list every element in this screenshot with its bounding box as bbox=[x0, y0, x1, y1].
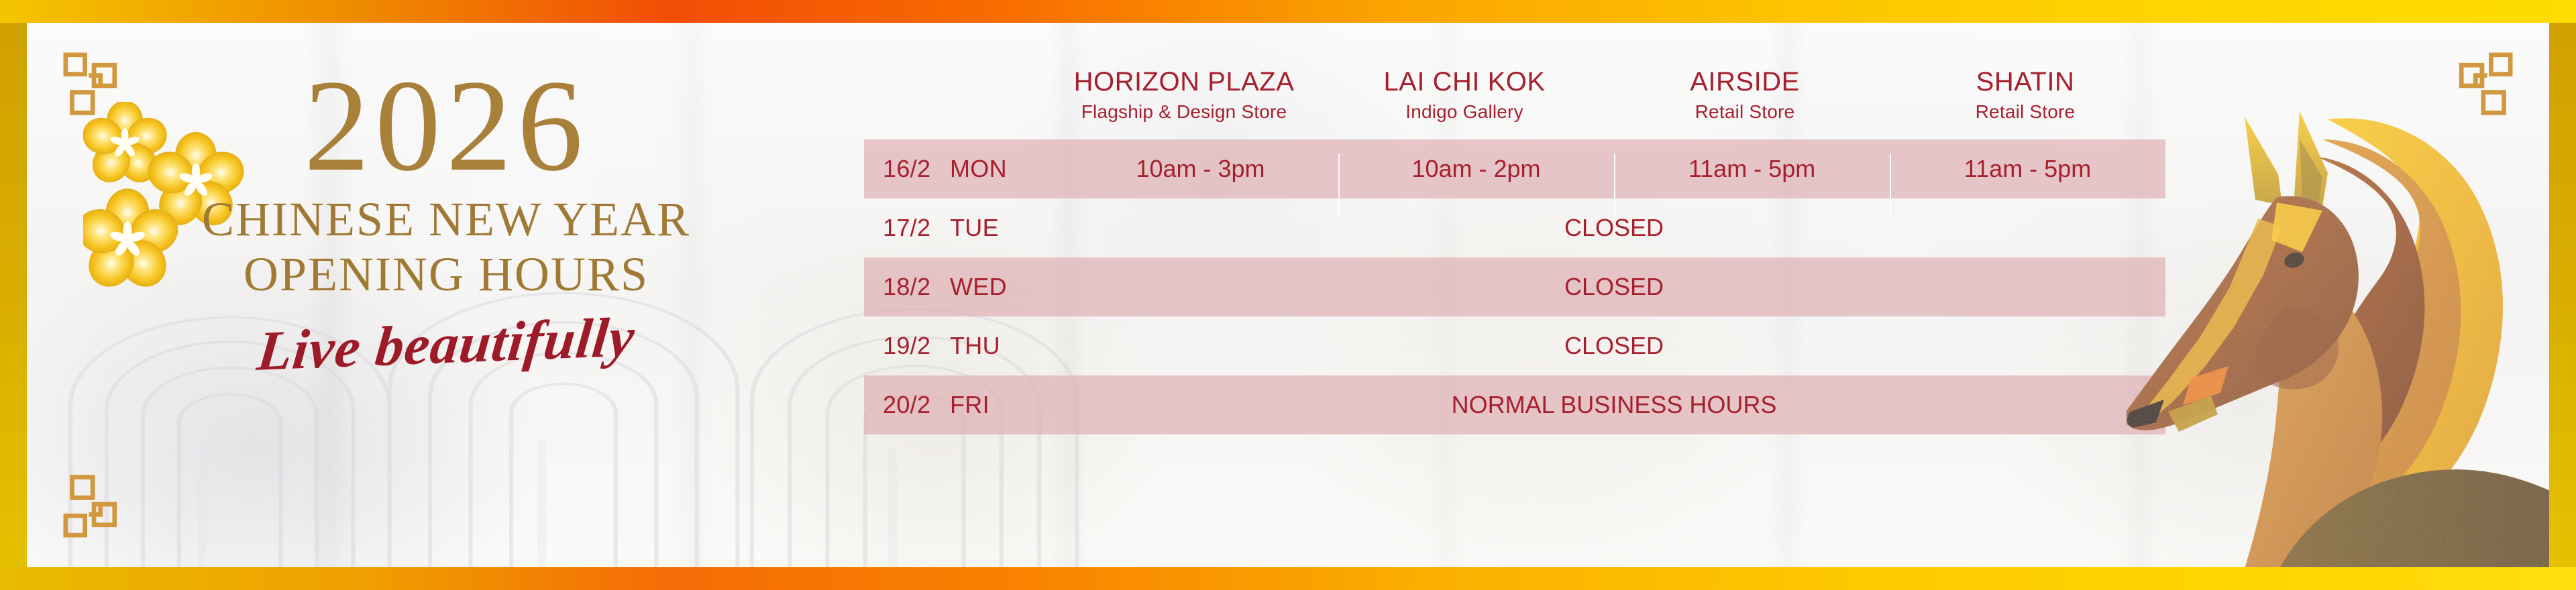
status-badge: CLOSED bbox=[1063, 332, 2165, 360]
row-date: 17/2 bbox=[883, 214, 932, 242]
store-subtitle: Flagship & Design Store bbox=[1044, 101, 1324, 123]
status-badge: CLOSED bbox=[1063, 273, 2165, 301]
chinese-geometric-corner-ornament-icon bbox=[63, 473, 127, 538]
banner-canvas: 2026 CHINESE NEW YEAR OPENING HOURS Live… bbox=[27, 21, 2549, 569]
row-weekday: MON bbox=[950, 155, 1007, 183]
store-subtitle: Retail Store bbox=[1885, 101, 2165, 123]
frame-left-gold bbox=[0, 0, 27, 590]
row-date: 20/2 bbox=[883, 391, 932, 419]
store-name: AIRSIDE bbox=[1605, 67, 1885, 97]
day-cell: 18/2 WED bbox=[864, 273, 1063, 301]
headline-block: 2026 CHINESE NEW YEAR OPENING HOURS Live… bbox=[127, 56, 765, 373]
store-name: SHATIN bbox=[1885, 67, 2165, 97]
row-date: 19/2 bbox=[883, 332, 932, 360]
row-weekday: THU bbox=[950, 332, 1000, 360]
row-weekday: WED bbox=[950, 273, 1007, 301]
header-spacer bbox=[864, 60, 1044, 139]
hours-cell-shatin: 11am - 5pm bbox=[1890, 155, 2165, 183]
hours-cell-airside: 11am - 5pm bbox=[1614, 155, 1890, 183]
frame-top-gradient bbox=[0, 0, 2576, 23]
frame-bottom-gradient bbox=[0, 567, 2576, 590]
status-badge: NORMAL BUSINESS HOURS bbox=[1063, 391, 2165, 419]
store-name: HORIZON PLAZA bbox=[1044, 67, 1324, 97]
store-subtitle: Indigo Gallery bbox=[1324, 101, 1605, 123]
table-row: 17/2 TUE CLOSED bbox=[864, 198, 2165, 257]
row-date: 18/2 bbox=[883, 273, 932, 301]
column-header-lai-chi-kok: LAI CHI KOK Indigo Gallery bbox=[1324, 60, 1605, 139]
status-badge: CLOSED bbox=[1063, 214, 2165, 242]
column-header-airside: AIRSIDE Retail Store bbox=[1605, 60, 1885, 139]
table-row: 16/2 MON 10am - 3pm 10am - 2pm 11am - 5p… bbox=[864, 139, 2165, 198]
opening-hours-table: HORIZON PLAZA Flagship & Design Store LA… bbox=[864, 60, 2165, 434]
day-cell: 16/2 MON bbox=[864, 155, 1063, 183]
row-weekday: TUE bbox=[950, 214, 999, 242]
row-date: 16/2 bbox=[883, 155, 932, 183]
store-name: LAI CHI KOK bbox=[1324, 67, 1605, 97]
day-cell: 20/2 FRI bbox=[864, 391, 1063, 419]
column-header-shatin: SHATIN Retail Store bbox=[1885, 60, 2165, 139]
headline-line-2: OPENING HOURS bbox=[127, 247, 765, 302]
row-weekday: FRI bbox=[950, 391, 989, 419]
cny-opening-hours-banner: 2026 CHINESE NEW YEAR OPENING HOURS Live… bbox=[0, 0, 2576, 590]
year-title: 2026 bbox=[127, 62, 765, 190]
hours-cell-lai-chi-kok: 10am - 2pm bbox=[1338, 155, 1614, 183]
year-of-the-horse-illustration bbox=[2127, 39, 2549, 569]
frame-right-gold bbox=[2549, 0, 2576, 590]
column-header-horizon-plaza: HORIZON PLAZA Flagship & Design Store bbox=[1044, 60, 1324, 139]
table-header-row: HORIZON PLAZA Flagship & Design Store LA… bbox=[864, 60, 2165, 139]
table-row: 20/2 FRI NORMAL BUSINESS HOURS bbox=[864, 375, 2165, 434]
headline-line-1: CHINESE NEW YEAR bbox=[127, 192, 765, 247]
table-row: 18/2 WED CLOSED bbox=[864, 257, 2165, 316]
table-row: 19/2 THU CLOSED bbox=[864, 316, 2165, 375]
day-cell: 19/2 THU bbox=[864, 332, 1063, 360]
hours-cell-horizon-plaza: 10am - 3pm bbox=[1063, 155, 1338, 183]
store-subtitle: Retail Store bbox=[1605, 101, 1885, 123]
day-cell: 17/2 TUE bbox=[864, 214, 1063, 242]
